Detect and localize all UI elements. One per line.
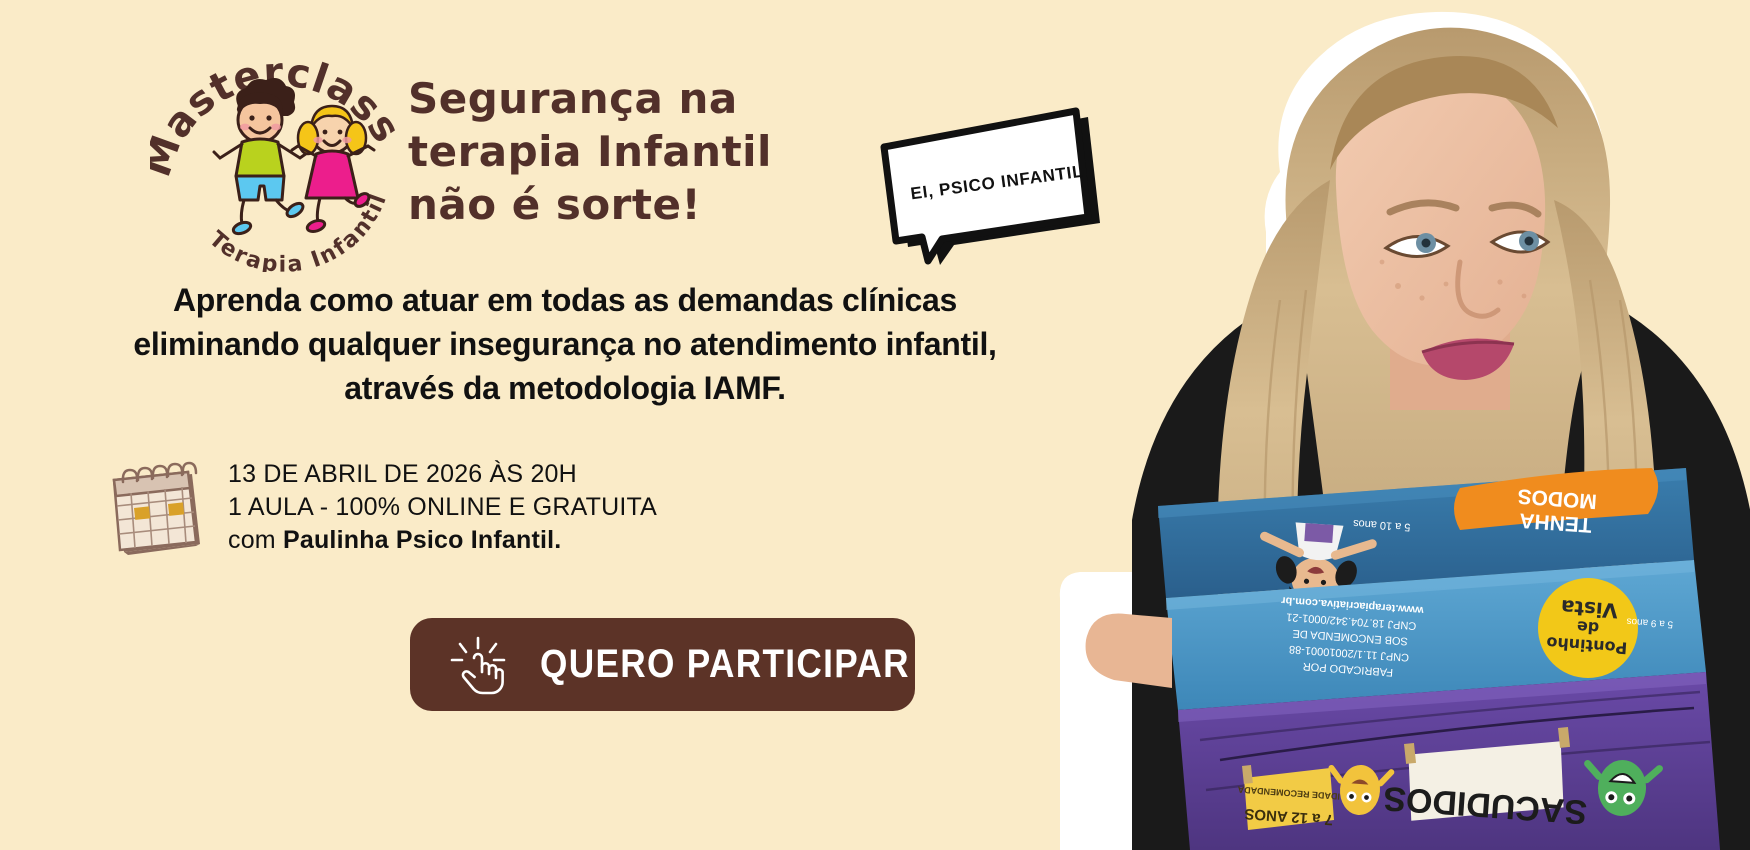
event-host-name: Paulinha Psico Infantil. bbox=[283, 526, 561, 554]
event-date: 13 DE ABRIL DE 2026 ÀS 20H bbox=[228, 458, 657, 491]
event-info-lines: 13 DE ABRIL DE 2026 ÀS 20H 1 AULA - 100%… bbox=[228, 452, 657, 557]
event-host-prefix: com bbox=[228, 526, 283, 554]
calendar-icon bbox=[110, 460, 210, 555]
svg-text:Vista: Vista bbox=[1560, 595, 1618, 623]
subheadline-line-1: Aprenda como atuar em todas as demandas … bbox=[60, 278, 1070, 322]
subheadline: Aprenda como atuar em todas as demandas … bbox=[60, 278, 1070, 410]
headline-line-1: Segurança na bbox=[408, 72, 828, 125]
cta-label: QUERO PARTICIPAR bbox=[540, 642, 910, 687]
event-host: com Paulinha Psico Infantil. bbox=[228, 524, 657, 557]
subheadline-line-2: eliminando qualquer insegurança no atend… bbox=[60, 322, 1070, 366]
event-info-block: 13 DE ABRIL DE 2026 ÀS 20H 1 AULA - 100%… bbox=[110, 452, 657, 557]
headline-line-3: não é sorte! bbox=[408, 178, 828, 231]
subheadline-line-3: através da metodologia IAMF. bbox=[60, 366, 1070, 410]
masterclass-promo-banner: Masterclass Terapia Infantil bbox=[0, 0, 1750, 850]
event-format: 1 AULA - 100% ONLINE E GRATUITA bbox=[228, 491, 657, 524]
box-banner-age: IDADE RECOMENDADA 7 a 12 ANOS bbox=[1237, 768, 1340, 830]
headline-line-2: terapia Infantil bbox=[408, 125, 828, 178]
headline: Segurança na terapia Infantil não é sort… bbox=[408, 72, 828, 231]
click-hand-icon bbox=[450, 634, 508, 696]
masterclass-logo: Masterclass Terapia Infantil bbox=[150, 42, 400, 272]
quero-participar-button[interactable]: QUERO PARTICIPAR bbox=[410, 618, 915, 711]
presenter-photo: TENHA MODOS 5 a 10 anos bbox=[1030, 0, 1750, 850]
